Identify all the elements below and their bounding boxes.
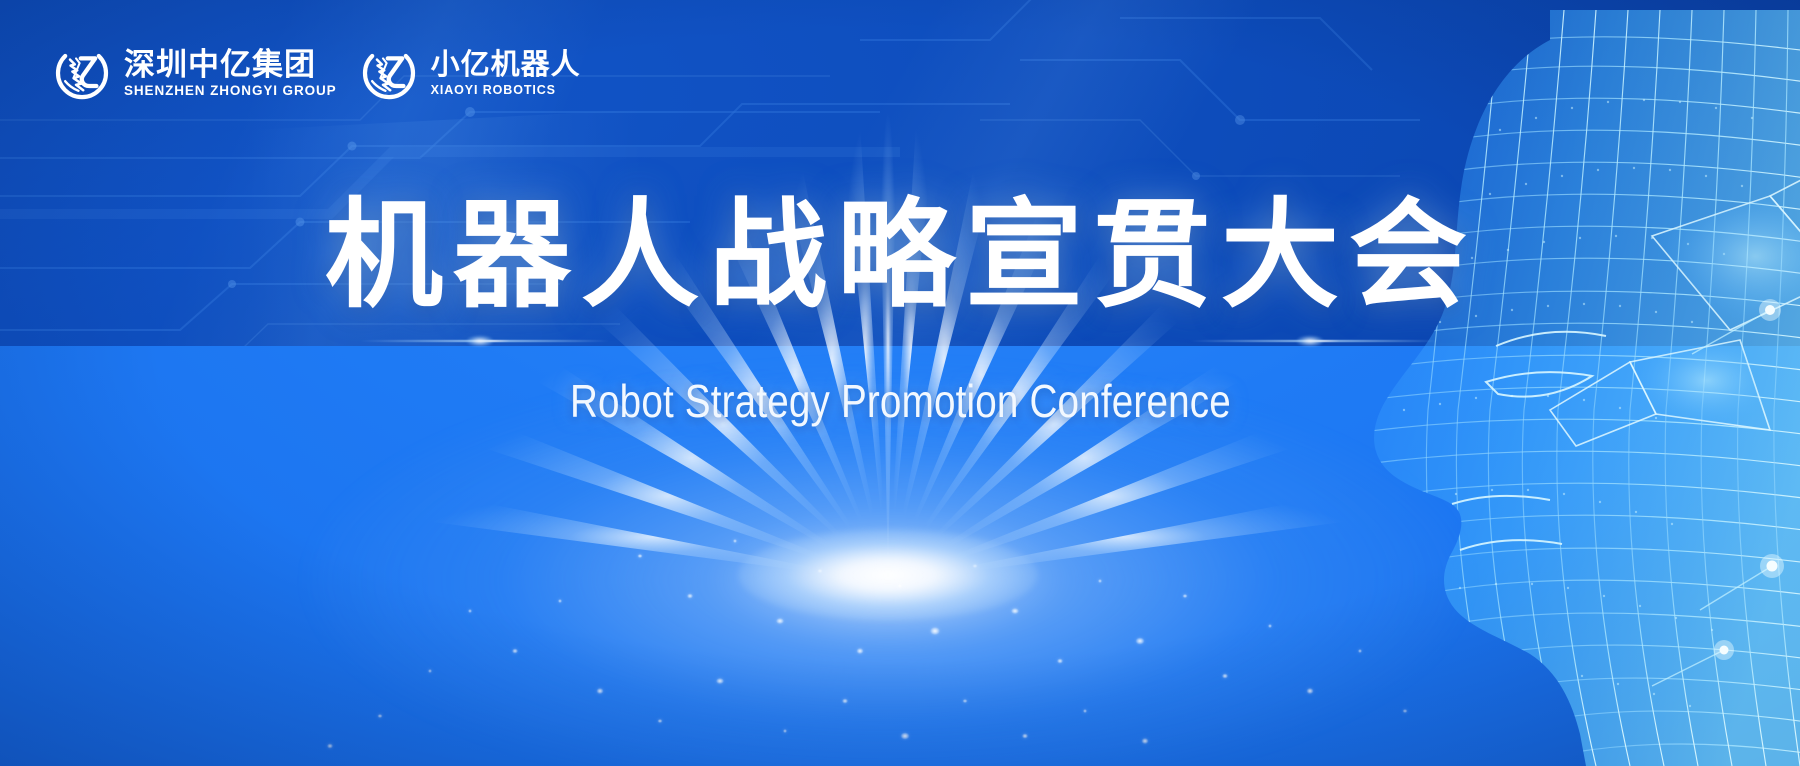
logo-text-group: 小亿机器人 XIAOYI ROBOTICS xyxy=(431,50,581,99)
logo-text-group: 深圳中亿集团 SHENZHEN ZHONGYI GROUP xyxy=(124,48,337,100)
logo-english-name: SHENZHEN ZHONGYI GROUP xyxy=(124,83,337,100)
logo-chinese-name: 小亿机器人 xyxy=(431,50,581,81)
title-block: 机器人战略宣贯大会 Robot Strategy Promotion Confe… xyxy=(0,196,1800,428)
light-streak-right-icon xyxy=(1190,340,1440,342)
zhongyi-emblem-icon xyxy=(52,44,112,104)
title-streak-row xyxy=(350,328,1450,354)
page-title: 机器人战略宣贯大会 xyxy=(315,196,1477,314)
logo-xiaoyi-robotics[interactable]: 小亿机器人 XIAOYI ROBOTICS xyxy=(359,44,581,104)
logo-chinese-name: 深圳中亿集团 xyxy=(124,48,337,81)
logo-bar: 深圳中亿集团 SHENZHEN ZHONGYI GROUP 小亿机器人 XIAO… xyxy=(52,44,581,104)
light-streak-left-icon xyxy=(360,340,610,342)
page-subtitle: Robot Strategy Promotion Conference xyxy=(570,374,1231,428)
conference-banner: 深圳中亿集团 SHENZHEN ZHONGYI GROUP 小亿机器人 XIAO… xyxy=(0,0,1800,766)
xiaoyi-emblem-icon xyxy=(359,44,419,104)
logo-english-name: XIAOYI ROBOTICS xyxy=(431,83,581,99)
logo-shenzhen-zhongyi-group[interactable]: 深圳中亿集团 SHENZHEN ZHONGYI GROUP xyxy=(52,44,337,104)
